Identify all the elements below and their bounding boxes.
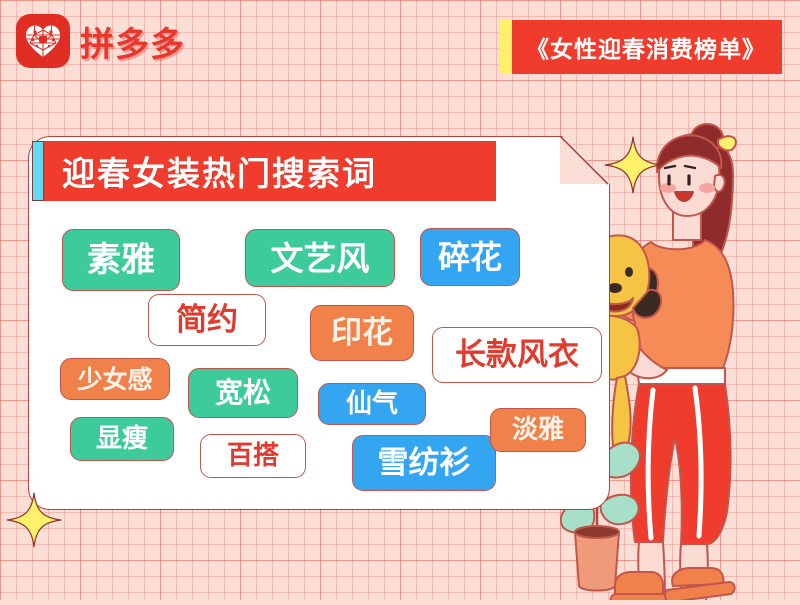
search-tag[interactable]: 长款风衣: [432, 327, 602, 383]
search-tag-label: 碎花: [438, 241, 502, 273]
search-tag-label: 印花: [331, 318, 393, 349]
search-tag[interactable]: 文艺风: [245, 229, 395, 287]
search-tag-label: 仙气: [346, 391, 398, 417]
sparkle-top-right: [604, 136, 662, 194]
sparkle-bottom-left: [6, 492, 62, 548]
search-tag[interactable]: 雪纺衫: [352, 435, 496, 491]
search-tag-label: 显瘦: [96, 426, 148, 452]
search-tag-label: 宽松: [215, 379, 271, 407]
search-tag[interactable]: 少女感: [60, 358, 170, 400]
report-title-ribbon: 《女性迎春消费榜单》: [499, 20, 782, 74]
card-title-accent-bar: [32, 141, 44, 201]
search-tag[interactable]: 仙气: [318, 383, 426, 425]
brand-logo-block[interactable]: 拼多多: [16, 14, 185, 68]
search-tag-label: 简约: [176, 305, 238, 336]
search-tag[interactable]: 宽松: [188, 368, 298, 418]
search-tag-label: 少女感: [77, 367, 152, 392]
search-tag[interactable]: 淡雅: [490, 408, 586, 452]
search-tag[interactable]: 简约: [148, 294, 266, 346]
brand-wordmark: 拼多多: [80, 17, 185, 66]
search-tag-label: 文艺风: [271, 242, 370, 275]
search-tag-label: 长款风衣: [455, 340, 579, 371]
pinduoduo-heart-logo-icon: [16, 14, 70, 68]
search-tag[interactable]: 素雅: [62, 229, 180, 291]
search-tag-label: 百搭: [227, 443, 279, 469]
card-title-bar: 迎春女装热门搜索词: [32, 141, 496, 201]
search-tag[interactable]: 百搭: [200, 434, 306, 478]
ribbon-accent-bar: [499, 20, 512, 74]
search-tag-label: 素雅: [87, 243, 155, 277]
search-tag[interactable]: 碎花: [420, 228, 520, 286]
search-tag-label: 雪纺衫: [378, 448, 471, 479]
search-tag-label: 淡雅: [512, 417, 564, 443]
card-title-text: 迎春女装热门搜索词: [62, 147, 377, 195]
search-tag[interactable]: 显瘦: [70, 417, 174, 461]
ribbon-title-text: 《女性迎春消费榜单》: [512, 30, 782, 64]
search-tag[interactable]: 印花: [310, 305, 414, 361]
